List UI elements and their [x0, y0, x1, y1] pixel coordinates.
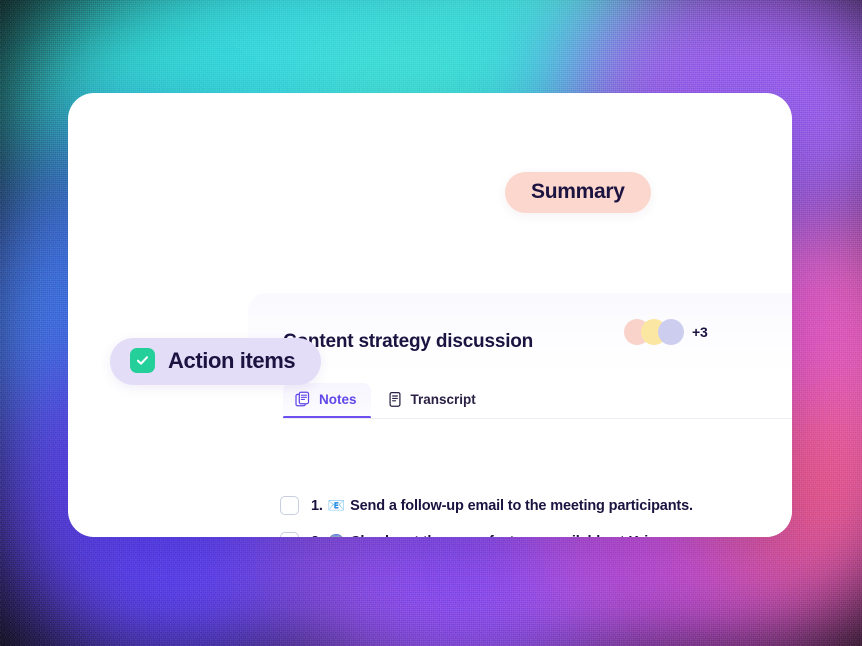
action-item-label: Check out the many features available at…	[350, 534, 665, 538]
participants-overflow-count[interactable]: +3	[692, 324, 708, 340]
tabs-divider	[283, 418, 792, 419]
notes-pages-icon	[295, 391, 311, 408]
list-item[interactable]: 2. 😱 Check out the many features availab…	[280, 523, 792, 537]
action-item-number: 1.	[311, 498, 323, 514]
action-item-checkbox[interactable]	[280, 532, 299, 538]
tabs-container: Notes Transcript	[283, 383, 792, 417]
action-item-number: 2.	[311, 534, 323, 538]
tab-list: Notes Transcript	[283, 383, 792, 417]
email-emoji: 📧	[328, 497, 345, 514]
tab-notes-label: Notes	[319, 392, 357, 407]
action-item-label: Send a follow-up email to the meeting pa…	[350, 498, 693, 514]
transcript-document-icon	[387, 391, 403, 408]
meeting-header: Content strategy discussion	[283, 319, 792, 365]
scream-face-emoji: 😱	[328, 533, 345, 538]
action-items-list: 1. 📧 Send a follow-up email to the meeti…	[280, 487, 792, 537]
action-items-label: Action items	[168, 350, 295, 372]
avatar-stack[interactable]	[624, 319, 684, 345]
participants-group[interactable]: +3	[624, 319, 708, 345]
tab-notes[interactable]: Notes	[283, 383, 371, 417]
page-title: Content strategy discussion	[283, 331, 533, 353]
action-item-text: 1. 📧 Send a follow-up email to the meeti…	[311, 497, 693, 514]
avatar[interactable]	[658, 319, 684, 345]
tab-transcript-label: Transcript	[411, 392, 476, 407]
list-item[interactable]: 1. 📧 Send a follow-up email to the meeti…	[280, 487, 792, 523]
action-item-checkbox[interactable]	[280, 496, 299, 515]
action-items-badge[interactable]: Action items	[110, 338, 321, 385]
checked-checkbox-icon	[130, 348, 155, 373]
action-item-text: 2. 😱 Check out the many features availab…	[311, 533, 665, 538]
app-window-card: Content strategy discussion +3	[68, 93, 792, 537]
summary-badge[interactable]: Summary	[505, 172, 651, 213]
tab-transcript[interactable]: Transcript	[375, 383, 490, 417]
screenshot-root: Content strategy discussion +3	[0, 0, 862, 646]
